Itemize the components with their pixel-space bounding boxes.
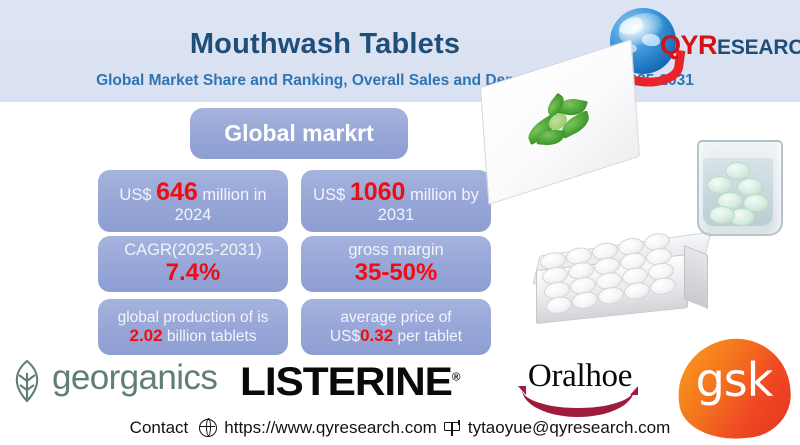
stat-value: 2.02 — [129, 326, 162, 345]
georganics-logo: georganics — [4, 358, 230, 404]
contact-email[interactable]: tytaoyue@qyresearch.com — [468, 418, 670, 438]
registered-mark: ® — [452, 372, 461, 384]
stat-box-average-price: average price of US$0.32 per tablet — [301, 299, 491, 355]
qyresearch-logo: QYRESEARCH — [608, 6, 794, 78]
glass-body — [697, 140, 783, 236]
stat-box-cagr: CAGR(2025-2031)7.4% — [98, 236, 288, 292]
water-glass — [697, 140, 779, 232]
oralhoe-logo: Oralhoe — [500, 360, 660, 410]
stat-value: 0.32 — [360, 326, 393, 345]
infographic-page: Mouthwash Tablets Global Market Share an… — [0, 0, 800, 442]
stat-value: 7.4% — [124, 260, 262, 287]
contact-bar: Contact https://www.qyresearch.com tytao… — [0, 414, 800, 442]
logo-text-qyr: QYR — [660, 30, 717, 60]
stat-prefix: US$ — [313, 186, 350, 204]
stat-box-market-size-2024: US$ 646 million in 2024 — [98, 170, 288, 232]
stat-prefix: global production of is — [118, 309, 269, 326]
stat-value: 646 — [156, 178, 198, 206]
header-band: Mouthwash Tablets Global Market Share an… — [0, 0, 800, 102]
contact-website[interactable]: https://www.qyresearch.com — [224, 418, 437, 438]
global-market-title-box: Global markrt — [190, 108, 408, 159]
listerine-wordmark: LISTERINE — [240, 360, 452, 404]
water — [703, 158, 773, 226]
stat-box-gross-margin: gross margin35-50% — [301, 236, 491, 292]
mint-leaf-icon — [523, 87, 594, 160]
stat-prefix: US$ — [119, 186, 156, 204]
stat-suffix: per tablet — [393, 328, 462, 345]
smile-swoosh-icon — [522, 386, 634, 417]
mailbox-icon — [444, 420, 461, 436]
leaf-tree-icon — [6, 359, 48, 403]
globe-landmass-icon — [642, 34, 660, 46]
stat-value: 35-50% — [348, 260, 443, 287]
listerine-logo: LISTERINE® — [240, 362, 486, 404]
contact-label: Contact — [130, 418, 189, 438]
smile-arrow-left-icon — [518, 386, 526, 395]
smile-arrow-right-icon — [630, 386, 638, 395]
stat-label: gross margin — [348, 241, 443, 259]
georganics-wordmark: georganics — [52, 360, 217, 395]
stat-box-market-size-2031: US$ 1060 million by 2031 — [301, 170, 491, 232]
globe-landmass-icon — [618, 16, 645, 37]
mouthwash-tablets-photo — [492, 132, 800, 360]
gsk-wordmark: gsk — [678, 357, 790, 403]
stat-suffix: billion tablets — [163, 328, 257, 345]
globe-icon — [199, 419, 217, 437]
stat-value: 1060 — [350, 178, 406, 206]
logo-wordmark: QYRESEARCH — [660, 32, 800, 59]
logo-text-esearch: ESEARCH — [717, 36, 800, 59]
stat-box-global-production: global production of is 2.02 billion tab… — [98, 299, 288, 355]
stat-label: CAGR(2025-2031) — [124, 241, 262, 259]
